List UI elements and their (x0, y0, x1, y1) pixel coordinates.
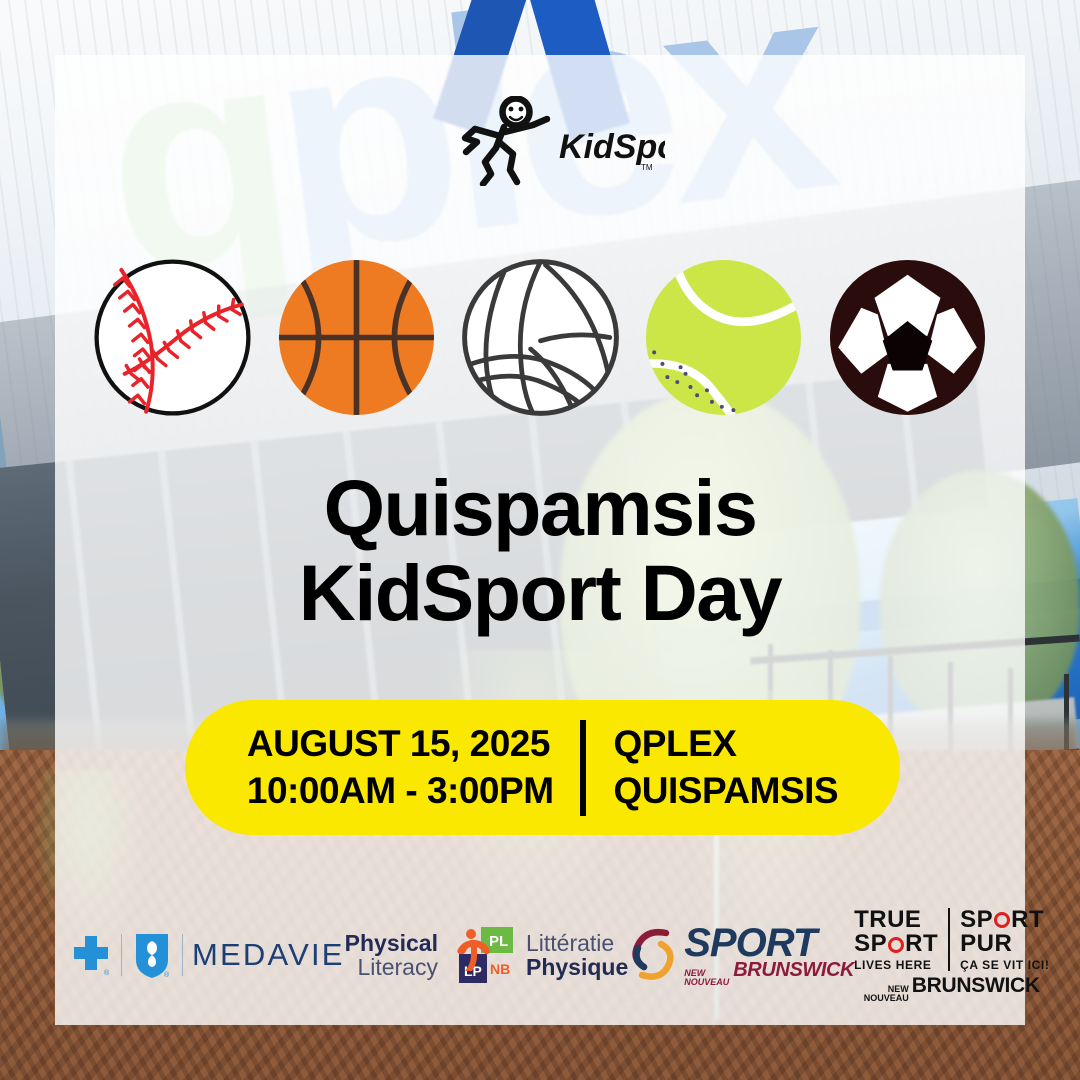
title-line-2: KidSport Day (55, 551, 1025, 636)
medavie-wordmark: MEDAVIE (192, 937, 345, 973)
running-stick-figure-icon: KidSport TM (455, 96, 665, 186)
true-sport-brunswick: BRUNSWICK (912, 974, 1040, 998)
datetime-group: AUGUST 15, 2025 10:00AM - 3:00PM (247, 721, 580, 814)
sport-pur-word-pur: PUR (960, 932, 1012, 956)
sport-nb-brunswick: BRUNSWICK (733, 960, 854, 980)
event-venue: QPLEX (614, 721, 737, 767)
sponsor-true-sport: TRUE SPRT LIVES HERE SPRT PUR ÇA SE VIT … (854, 908, 1049, 1002)
true-sport-french: SPRT PUR ÇA SE VIT ICI! (960, 908, 1049, 971)
blue-shield-icon: ® (131, 930, 173, 980)
physlit-fr-line1: Littératie (526, 931, 628, 955)
title-line-1: Quispamsis (55, 466, 1025, 551)
red-ring-icon (888, 937, 904, 953)
baseball-icon (90, 255, 255, 420)
logo-divider (182, 934, 183, 976)
tennis-ball-icon (641, 255, 806, 420)
true-sport-tagline-fr: ÇA SE VIT ICI! (960, 959, 1049, 971)
eye-left-icon (509, 107, 514, 112)
kidsport-wordmark: KidSport (559, 128, 665, 166)
true-sport-tagline-en: LIVES HERE (854, 959, 931, 971)
pl-badge-text: PL (489, 933, 508, 950)
true-sport-word-true: TRUE (854, 908, 921, 932)
sport-nb-swirl-icon (628, 927, 680, 983)
svg-text:®: ® (104, 969, 110, 977)
sport-nb-nouveau: NOUVEAU (684, 978, 729, 987)
sport-nb-bilingual-prefix: NEW NOUVEAU (684, 969, 729, 986)
sport-nb-text: SPORT NEW NOUVEAU BRUNSWICK (684, 923, 854, 986)
sport-nb-province-line: NEW NOUVEAU BRUNSWICK (684, 960, 854, 986)
svg-text:®: ® (164, 971, 170, 979)
red-ring-icon (994, 912, 1010, 928)
volleyball-icon (458, 255, 623, 420)
physlit-english-text: Physical Literacy (345, 931, 438, 979)
sports-balls-row (90, 252, 990, 422)
event-city: QUISPAMSIS (614, 768, 839, 814)
location-group: QPLEX QUISPAMSIS (586, 721, 839, 814)
kidsport-logo: KidSport TM (455, 96, 665, 186)
eye-right-icon (519, 107, 524, 112)
sponsor-sport-nb: SPORT NEW NOUVEAU BRUNSWICK (628, 923, 854, 986)
blue-cross-icon: ® (70, 932, 112, 978)
sport-pur-word-sport: SPRT (960, 908, 1044, 932)
physlit-fr-line2: Physique (526, 955, 628, 979)
sponsor-logos-row: ® ® MEDAVIE Physical Literacy PL LP NB (70, 900, 1010, 1010)
true-sport-english: TRUE SPRT LIVES HERE (854, 908, 938, 971)
event-info-banner: AUGUST 15, 2025 10:00AM - 3:00PM QPLEX Q… (185, 700, 900, 835)
physlit-en-line2: Literacy (345, 955, 438, 979)
sponsor-medavie-blue-cross: ® ® MEDAVIE (70, 930, 345, 980)
logo-divider (121, 934, 122, 976)
basketball-icon (274, 255, 439, 420)
true-sport-word-sport: SPRT (854, 932, 938, 956)
physlit-en-line1: Physical (345, 931, 438, 955)
event-date: AUGUST 15, 2025 (247, 721, 550, 767)
true-sport-bilingual-prefix: NEW NOUVEAU (864, 985, 909, 1002)
sponsor-physical-literacy: Physical Literacy PL LP NB Littératie Ph… (345, 924, 629, 986)
true-sport-divider (948, 908, 950, 971)
true-sport-province-line: NEW NOUVEAU BRUNSWICK (864, 974, 1040, 1002)
sport-nb-wordmark: SPORT (684, 923, 854, 963)
soccer-ball-icon (825, 255, 990, 420)
true-sport-nouveau: NOUVEAU (864, 994, 909, 1003)
physlit-french-text: Littératie Physique (526, 931, 628, 979)
event-time: 10:00AM - 3:00PM (247, 768, 554, 814)
physlit-badge-icon: PL LP NB (445, 924, 519, 986)
trademark-mark: TM (641, 163, 653, 172)
true-sport-bilingual: TRUE SPRT LIVES HERE SPRT PUR ÇA SE VIT … (854, 908, 1049, 971)
nb-badge-text: NB (490, 961, 510, 977)
page-title: Quispamsis KidSport Day (55, 466, 1025, 635)
